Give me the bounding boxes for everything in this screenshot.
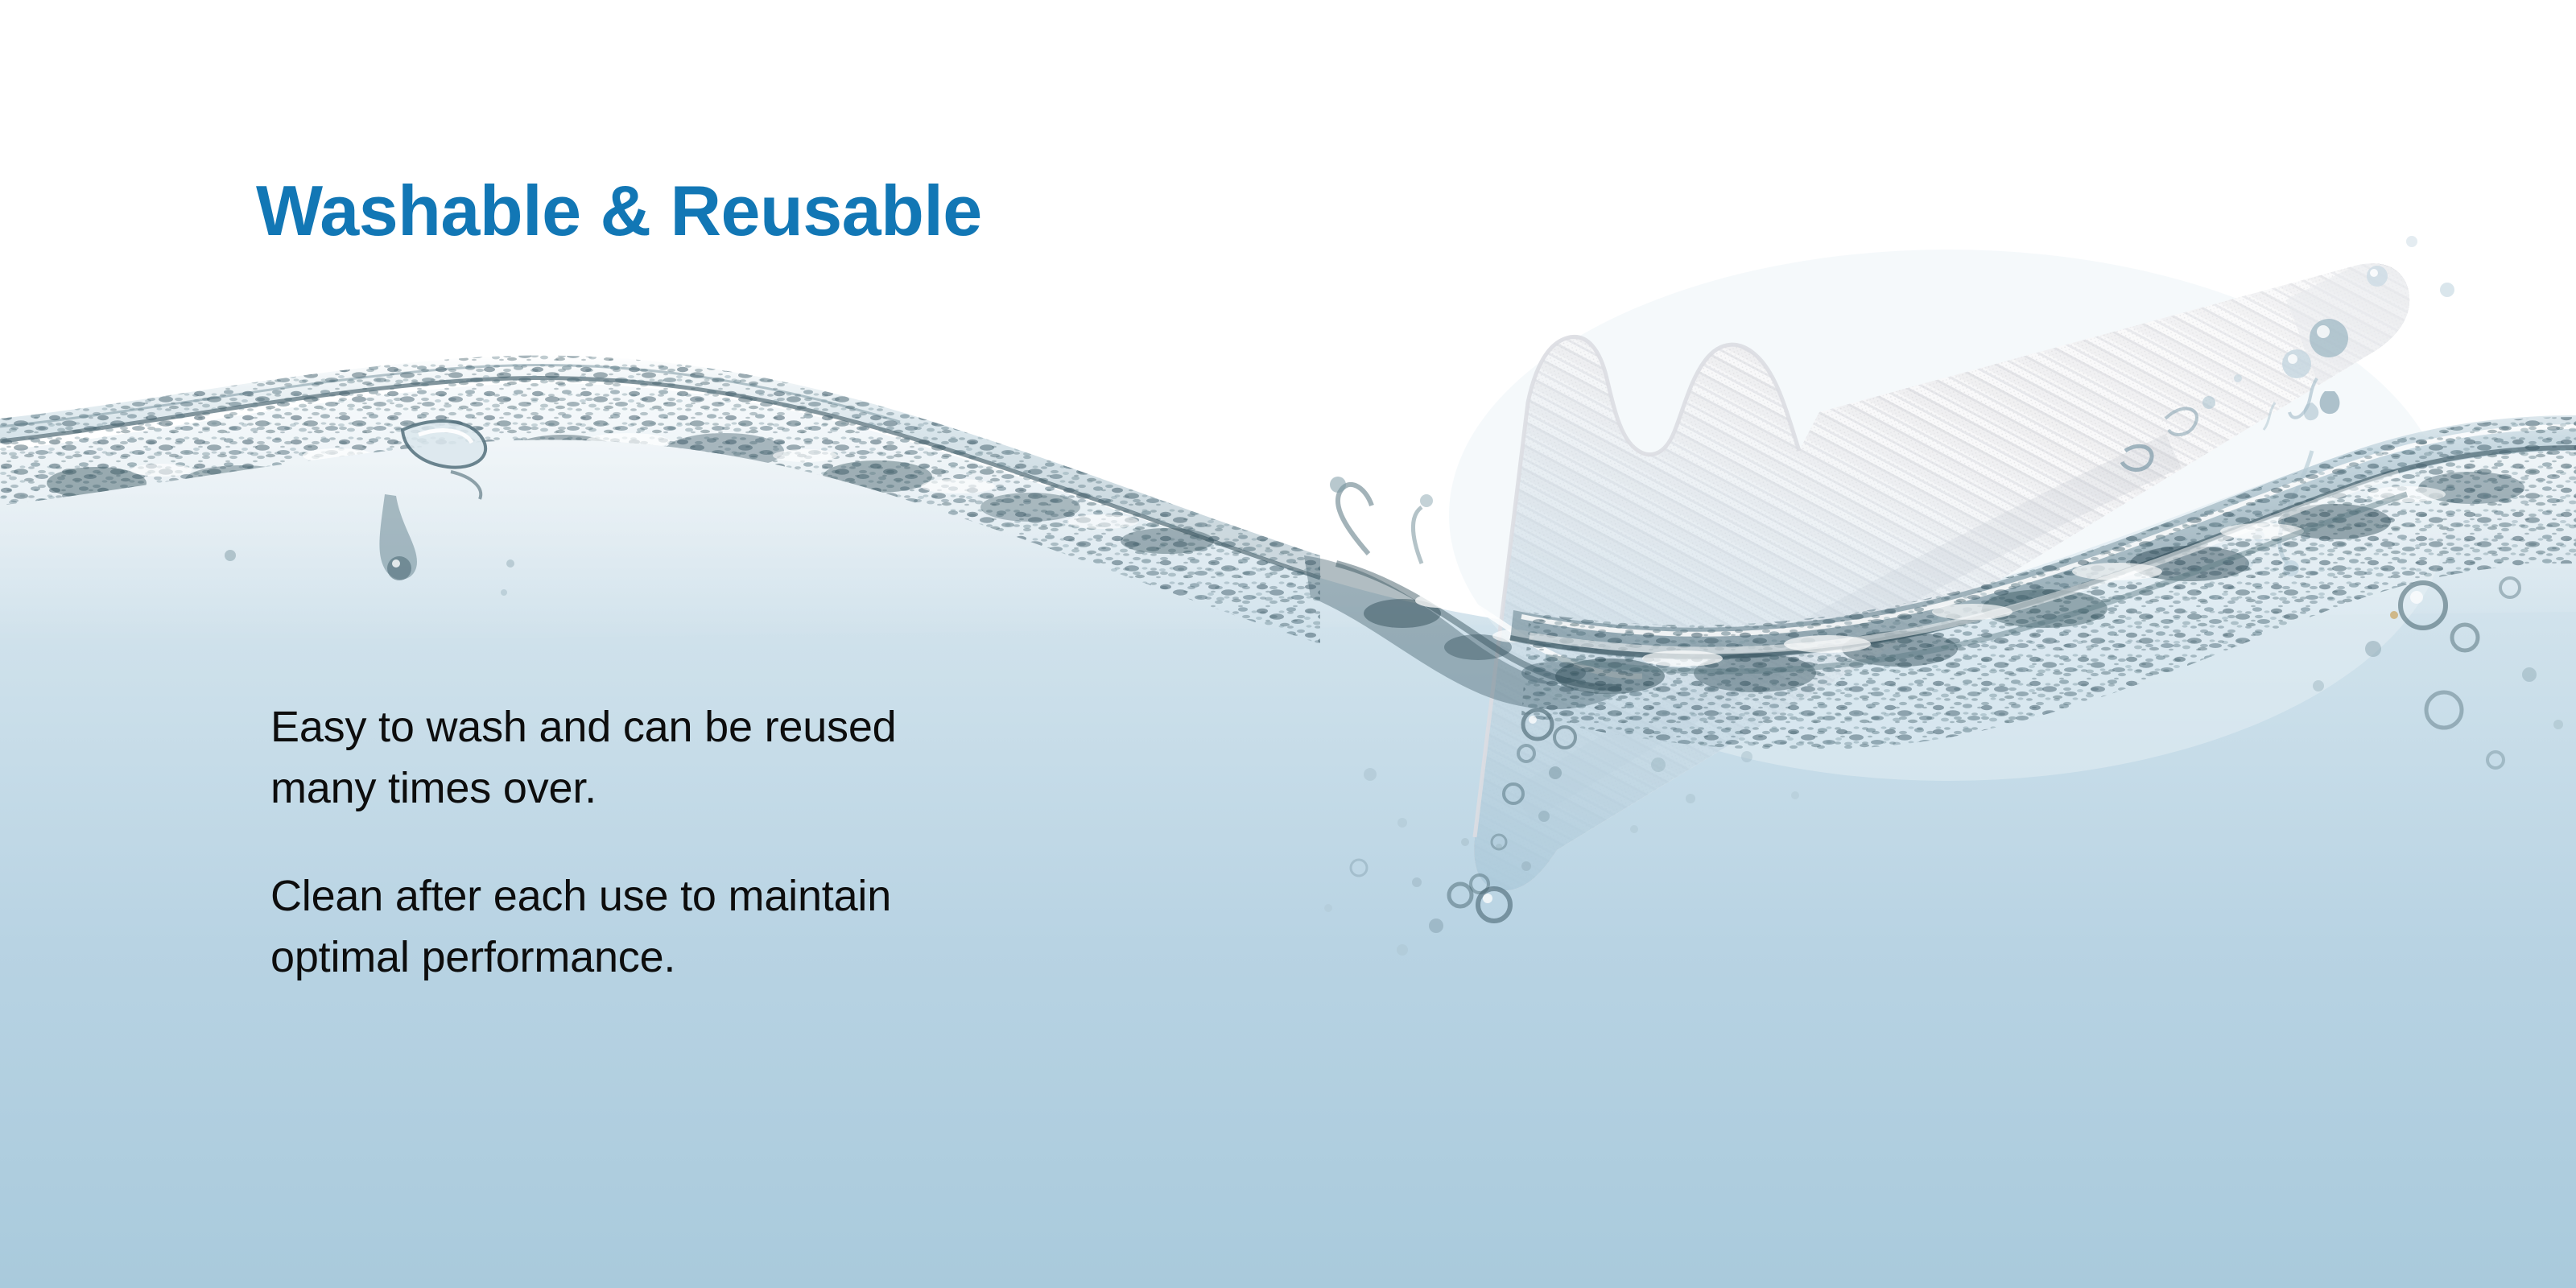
page-title: Washable & Reusable [256, 175, 982, 246]
paragraph-1: Easy to wash and can be reused many time… [270, 696, 1172, 819]
paragraph-2-line-1: Clean after each use to maintain [270, 865, 1172, 927]
paragraph-2-line-2: optimal performance. [270, 927, 1172, 988]
slide-canvas: Washable & Reusable Easy to wash and can… [0, 0, 2576, 1288]
paragraph-2: Clean after each use to maintain optimal… [270, 865, 1172, 988]
paragraph-1-line-2: many times over. [270, 758, 1172, 819]
body-copy: Easy to wash and can be reused many time… [270, 696, 1172, 988]
paragraph-1-line-1: Easy to wash and can be reused [270, 696, 1172, 758]
